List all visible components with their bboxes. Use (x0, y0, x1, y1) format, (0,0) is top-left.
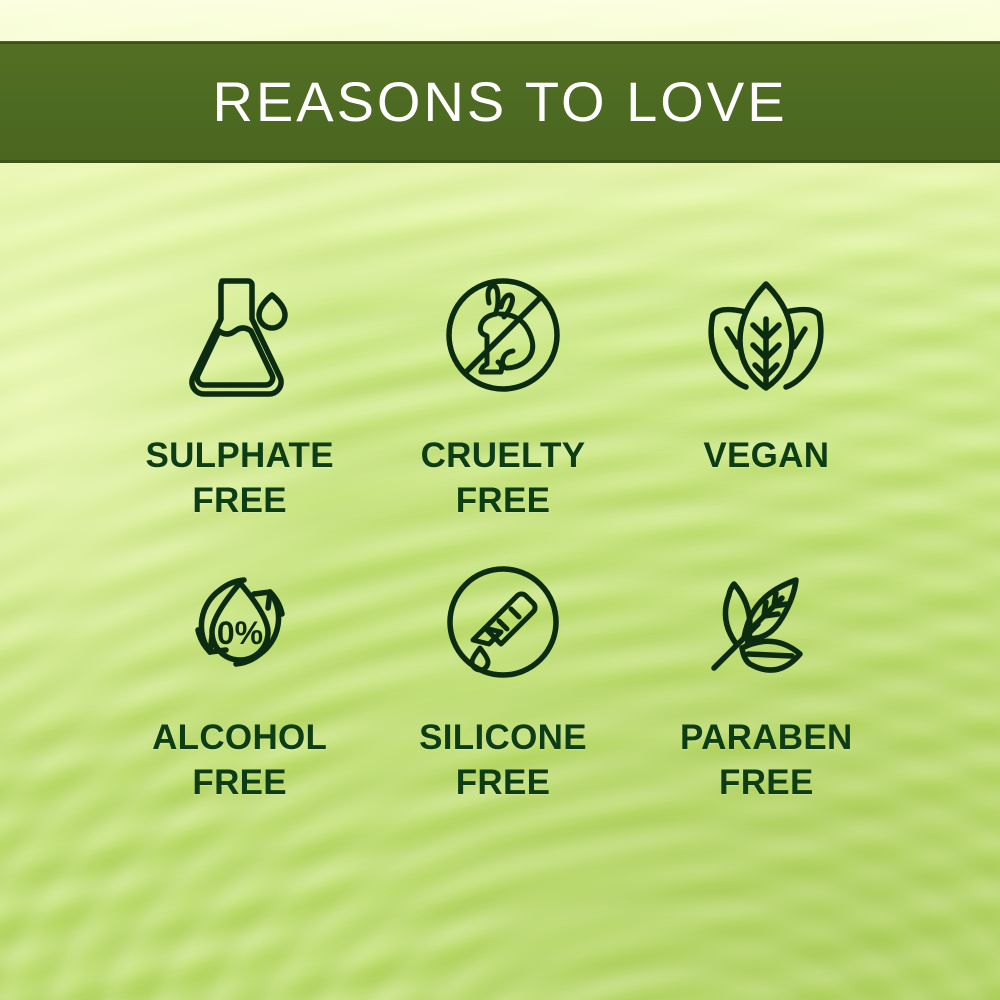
feature-label-line-1: VEGAN (703, 436, 829, 475)
feature-item-paraben-free: PARABEN FREE (635, 552, 898, 842)
banner-top-edge (0, 41, 1000, 44)
feature-label: SULPHATE FREE (145, 434, 333, 524)
paraben-free-icon (696, 552, 836, 692)
silicone-free-icon (437, 552, 569, 692)
svg-text:0%: 0% (217, 615, 263, 651)
banner-bottom-edge (0, 160, 1000, 163)
feature-label: ALCOHOL FREE (152, 716, 327, 806)
sulphate-free-icon (175, 262, 305, 412)
feature-label-line-2: FREE (421, 479, 586, 524)
feature-label-line-1: ALCOHOL (152, 718, 327, 757)
page-title: REASONS TO LOVE (212, 74, 787, 130)
feature-item-cruelty-free: CRUELTY FREE (371, 262, 634, 552)
feature-label: VEGAN (703, 434, 829, 479)
feature-item-silicone-free: SILICONE FREE (371, 552, 634, 842)
feature-label-line-1: SULPHATE (145, 436, 333, 475)
feature-label-line-2: FREE (419, 761, 587, 806)
feature-label-line-1: PARABEN (680, 718, 853, 757)
alcohol-free-icon: 0% (174, 552, 306, 692)
feature-label-line-2: FREE (680, 761, 853, 806)
feature-item-sulphate-free: SULPHATE FREE (108, 262, 371, 552)
feature-label: SILICONE FREE (419, 716, 587, 806)
feature-label-line-1: CRUELTY (421, 436, 586, 475)
feature-label-line-2: FREE (145, 479, 333, 524)
reasons-to-love-poster: REASONS TO LOVE SULPHATE FREE (0, 0, 1000, 1000)
vegan-icon (696, 262, 836, 412)
feature-label: PARABEN FREE (680, 716, 853, 806)
feature-item-alcohol-free: 0% ALCOHOL FREE (108, 552, 371, 842)
feature-item-vegan: VEGAN (635, 262, 898, 552)
cruelty-free-icon (438, 262, 568, 412)
feature-label-line-1: SILICONE (419, 718, 587, 757)
feature-label: CRUELTY FREE (421, 434, 586, 524)
header-banner: REASONS TO LOVE (0, 41, 1000, 163)
feature-label-line-2: FREE (152, 761, 327, 806)
feature-grid: SULPHATE FREE (108, 262, 898, 842)
